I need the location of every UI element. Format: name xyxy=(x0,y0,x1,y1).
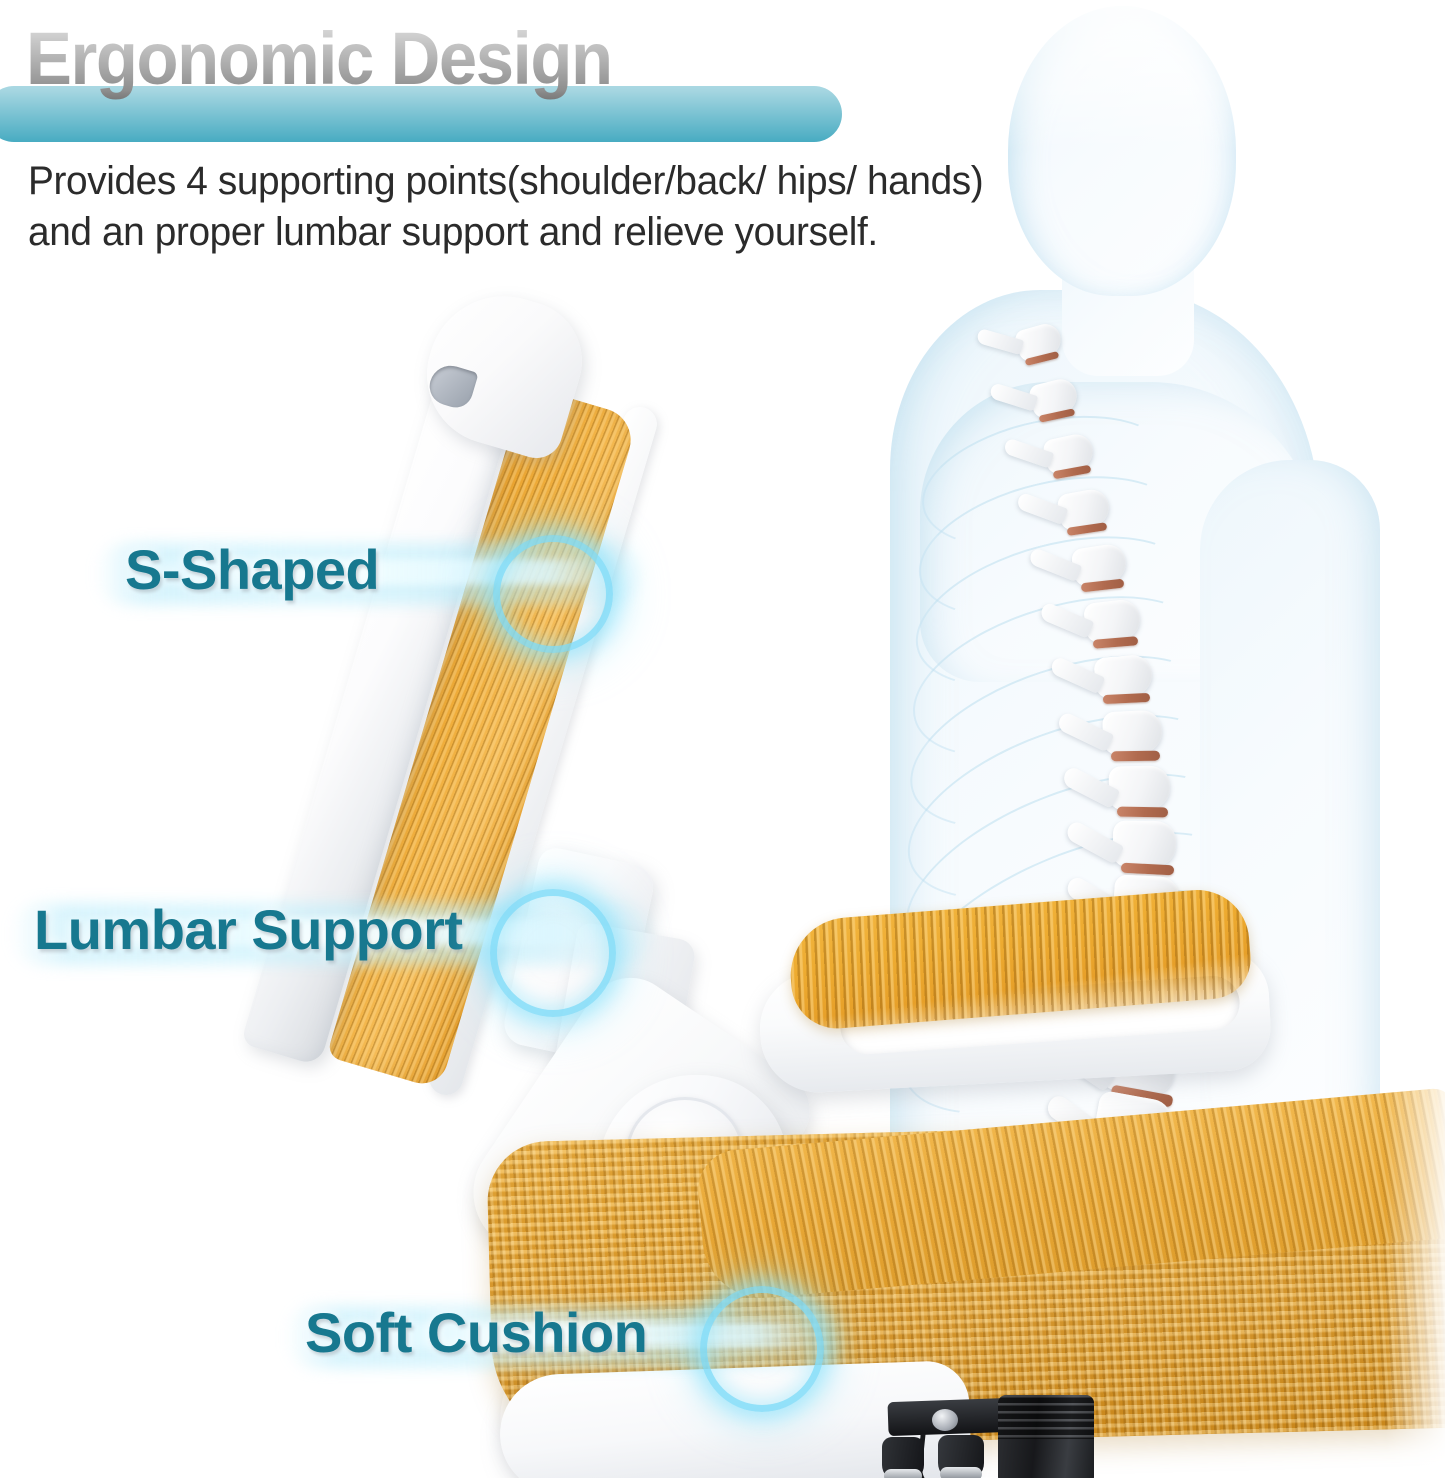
infographic-canvas: S-Shaped Lumbar Support Soft Cushion Erg… xyxy=(0,0,1445,1478)
gas-cylinder-ribs xyxy=(998,1395,1094,1439)
backrest-hook-notch xyxy=(425,361,479,412)
header-block: Ergonomic Design Provides 4 supporting p… xyxy=(0,0,1445,280)
gas-cylinder xyxy=(998,1395,1094,1478)
callout-target-ring-icon xyxy=(700,1286,824,1412)
chair-base-mechanism xyxy=(880,1395,1240,1478)
callout-label-lumbar-support: Lumbar Support xyxy=(34,897,463,962)
knob-metal-ring-right xyxy=(940,1467,982,1478)
callout-label-soft-cushion: Soft Cushion xyxy=(305,1300,647,1365)
callout-soft-cushion: Soft Cushion xyxy=(285,1278,845,1398)
page-subtitle: Provides 4 supporting points(shoulder/ba… xyxy=(28,156,1221,258)
knob-metal-ring-left xyxy=(884,1469,922,1478)
subtitle-line-2: and an proper lumbar support and relieve… xyxy=(28,207,1221,258)
page-title: Ergonomic Design xyxy=(26,22,863,96)
callout-target-ring-icon xyxy=(493,535,613,653)
callout-target-ring-icon xyxy=(490,889,616,1017)
callout-lumbar-support: Lumbar Support xyxy=(10,875,650,995)
base-bolt xyxy=(932,1409,958,1431)
subtitle-line-1: Provides 4 supporting points(shoulder/ba… xyxy=(28,156,1221,207)
callout-s-shaped: S-Shaped xyxy=(95,515,640,635)
callout-label-s-shaped: S-Shaped xyxy=(125,537,379,602)
